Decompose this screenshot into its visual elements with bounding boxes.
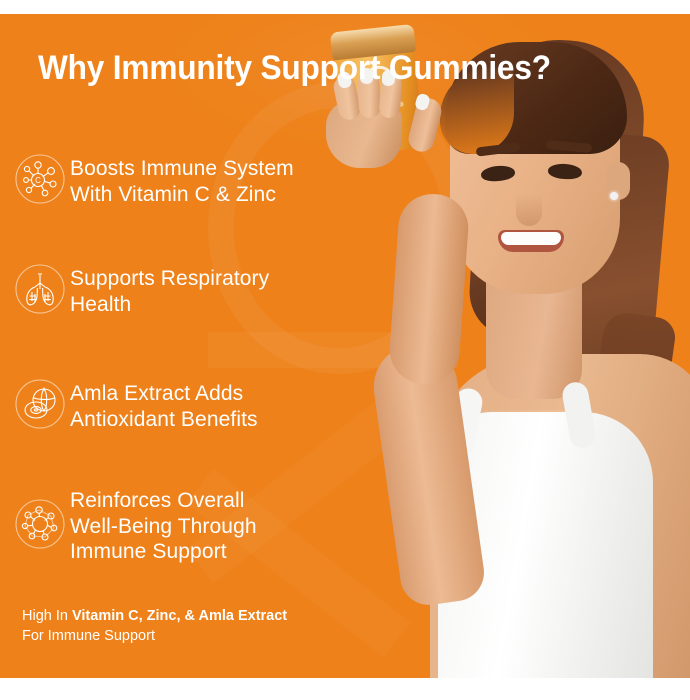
footnote-highlight: Vitamin C, Zinc, & Amla Extract [72, 608, 287, 624]
feature-label: Boosts Immune System With Vitamin C & Zi… [70, 155, 294, 207]
feature-item-respiratory: Supports Respiratory Health [14, 263, 269, 317]
footnote-tail: For Immune Support [22, 628, 155, 644]
model-photo [290, 14, 690, 678]
mouth [498, 230, 564, 252]
molecule-network-icon [14, 498, 66, 550]
footnote-lead: High In [22, 608, 72, 624]
footnote: High In Vitamin C, Zinc, & Amla Extract … [22, 606, 292, 646]
nose [516, 194, 542, 226]
amla-fruit-icon [14, 378, 66, 430]
feature-label: Amla Extract Adds Antioxidant Benefits [70, 380, 258, 432]
feature-label: Supports Respiratory Health [70, 265, 269, 317]
teeth [501, 232, 561, 245]
svg-text:C: C [35, 176, 41, 185]
forearm [387, 192, 470, 386]
earring [610, 192, 618, 200]
page-title: Why Immunity Support Gummies? [38, 48, 551, 88]
lungs-icon [14, 263, 66, 315]
vitamin-c-molecule-icon: C [14, 153, 66, 205]
feature-item-immune-system: C Boosts Immune System With Vitamin C & … [14, 153, 294, 207]
feature-item-wellbeing: Reinforces Overall Well-Being Through Im… [14, 498, 257, 565]
orange-panel: Why Immunity Support Gummies? C [0, 14, 690, 678]
feature-item-amla: Amla Extract Adds Antioxidant Benefits [14, 378, 258, 432]
feature-label: Reinforces Overall Well-Being Through Im… [70, 488, 257, 565]
promo-banner: Why Immunity Support Gummies? C [0, 0, 690, 700]
